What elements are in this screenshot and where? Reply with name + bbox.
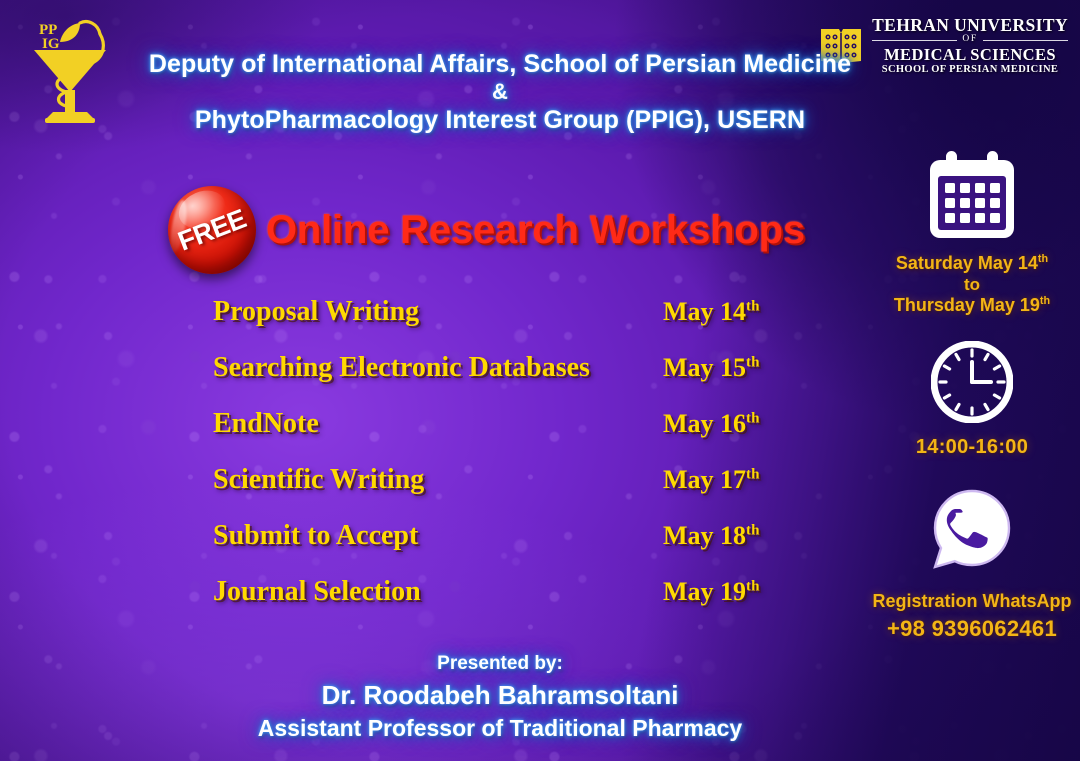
schedule-row: EndNote May 16th <box>213 408 813 464</box>
workshop-date-ordinal: th <box>746 354 759 370</box>
workshop-date-text: May 14 <box>663 297 746 326</box>
workshop-date: May 14th <box>663 297 813 327</box>
organizer-header: Deputy of International Affairs, School … <box>120 48 880 136</box>
workshop-date: May 15th <box>663 353 813 383</box>
tums-line-4: SCHOOL OF PERSIAN MEDICINE <box>872 65 1068 76</box>
free-badge: FREE <box>168 186 256 274</box>
organizer-line-2: PhytoPharmacology Interest Group (PPIG),… <box>120 104 880 136</box>
ppig-logo: PP IG <box>14 8 118 126</box>
workshop-date-text: May 17 <box>663 465 746 494</box>
presenter-name: Dr. Roodabeh Bahramsoltani <box>150 678 850 714</box>
date-range-end: Thursday May 19th <box>894 295 1050 317</box>
workshop-date: May 17th <box>663 465 813 495</box>
date-range-end-text: Thursday May 19 <box>894 295 1040 315</box>
title-row: FREE Online Research Workshops <box>168 186 805 274</box>
workshop-date-ordinal: th <box>746 466 759 482</box>
workshop-name: Searching Electronic Databases <box>213 352 663 384</box>
whatsapp-block: Registration WhatsApp +98 9396062461 <box>872 459 1071 643</box>
poster-canvas: PP IG TE <box>0 0 1080 761</box>
workshop-date-text: May 15 <box>663 353 746 382</box>
time-range-text: 14:00-16:00 <box>916 435 1028 459</box>
workshop-name: EndNote <box>213 408 663 440</box>
free-badge-label: FREE <box>155 173 269 287</box>
workshop-date-ordinal: th <box>746 522 759 538</box>
page-title: Online Research Workshops <box>266 208 805 253</box>
workshop-name: Journal Selection <box>213 576 663 608</box>
date-range-start: Saturday May 14th <box>894 253 1050 275</box>
workshop-date: May 16th <box>663 409 813 439</box>
bowl-of-hygieia-icon: PP IG <box>14 8 118 126</box>
tums-line-3: MEDICAL SCIENCES <box>872 46 1068 63</box>
schedule-row: Submit to Accept May 18th <box>213 520 813 576</box>
date-range-start-text: Saturday May 14 <box>896 253 1038 273</box>
workshop-date-text: May 16 <box>663 409 746 438</box>
date-range-end-ordinal: th <box>1040 295 1050 307</box>
date-range-start-ordinal: th <box>1038 253 1048 265</box>
date-block: Saturday May 14th to Thursday May 19th <box>894 150 1050 317</box>
workshop-date: May 19th <box>663 577 813 607</box>
date-range-text: Saturday May 14th to Thursday May 19th <box>894 253 1050 317</box>
workshop-name: Scientific Writing <box>213 464 663 496</box>
whatsapp-label: Registration WhatsApp <box>872 591 1071 613</box>
schedule-row: Journal Selection May 19th <box>213 576 813 632</box>
presenter-role: Assistant Professor of Traditional Pharm… <box>150 713 850 745</box>
organizer-ampersand: & <box>120 80 880 104</box>
workshop-name: Submit to Accept <box>213 520 663 552</box>
schedule-row: Proposal Writing May 14th <box>213 296 813 352</box>
calendar-icon <box>925 150 1019 242</box>
workshop-date-ordinal: th <box>746 298 759 314</box>
tums-wordmark: TEHRAN UNIVERSITY OF MEDICAL SCIENCES SC… <box>872 16 1068 76</box>
workshop-date-text: May 18 <box>663 521 746 550</box>
info-sidebar: Saturday May 14th to Thursday May 19th <box>872 150 1072 643</box>
workshop-name: Proposal Writing <box>213 296 663 328</box>
whatsapp-phone[interactable]: +98 9396062461 <box>887 616 1057 642</box>
organizer-line-1: Deputy of International Affairs, School … <box>120 48 880 80</box>
presenter-label: Presented by: <box>150 650 850 678</box>
clock-icon <box>931 341 1013 423</box>
date-range-connector: to <box>894 275 1050 295</box>
tums-line-2: OF <box>872 35 1068 45</box>
schedule-row: Searching Electronic Databases May 15th <box>213 352 813 408</box>
schedule-row: Scientific Writing May 17th <box>213 464 813 520</box>
whatsapp-icon[interactable] <box>930 487 1014 571</box>
workshop-date-text: May 19 <box>663 577 746 606</box>
workshop-date: May 18th <box>663 521 813 551</box>
workshop-date-ordinal: th <box>746 410 759 426</box>
workshop-schedule: Proposal Writing May 14th Searching Elec… <box>213 296 813 632</box>
presenter-block: Presented by: Dr. Roodabeh Bahramsoltani… <box>150 650 850 745</box>
time-block: 14:00-16:00 <box>916 317 1028 459</box>
ppig-letters-bottom: IG <box>42 36 60 52</box>
workshop-date-ordinal: th <box>746 578 759 594</box>
tums-line-1: TEHRAN UNIVERSITY <box>872 16 1068 34</box>
